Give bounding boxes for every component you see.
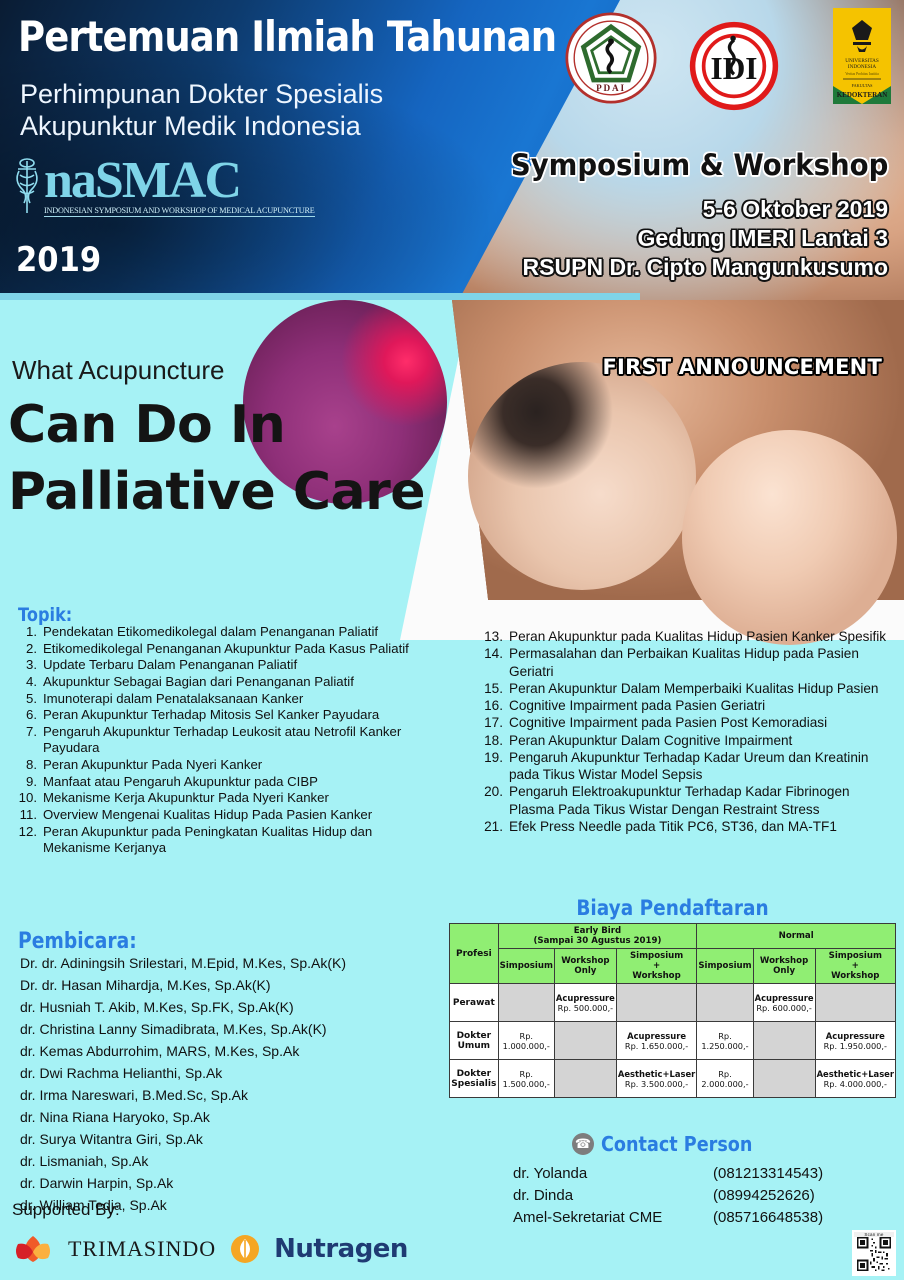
price-cell-label: Acupressure xyxy=(556,993,615,1003)
price-cell-n-workshop: AcupressureRp. 600.000,- xyxy=(753,984,815,1022)
topic-number: 4. xyxy=(16,674,43,691)
topic-item: 1.Pendekatan Etikomedikolegal dalam Pena… xyxy=(16,624,416,641)
price-cell-amount: Rp. 4.000.000,- xyxy=(817,1079,894,1089)
hero-theme-line-2: Palliative Care xyxy=(8,459,425,526)
n-workshop-l1: Workshop xyxy=(760,956,808,966)
col-n-simposium: Simposium xyxy=(697,949,753,984)
contact-name: dr. Yolanda xyxy=(513,1163,713,1185)
price-cell-n-combo: AcupressureRp. 1.950.000,- xyxy=(815,1022,895,1060)
table-row: Dokter SpesialisRp. 1.500.000,-Aesthetic… xyxy=(450,1060,896,1098)
event-venue-line-2: RSUPN Dr. Cipto Mangunkusumo xyxy=(523,253,888,282)
topic-number: 8. xyxy=(16,757,43,774)
topic-text: Cognitive Impairment pada Pasien Geriatr… xyxy=(509,697,892,714)
caduceus-icon xyxy=(10,155,44,217)
organization-line-2: Akupunktur Medik Indonesia xyxy=(20,110,383,142)
phone-icon: ☎ xyxy=(572,1133,594,1155)
topic-item: 4.Akupunktur Sebagai Bagian dari Penanga… xyxy=(16,674,416,691)
speaker-item: dr. Dwi Rachma Helianthi, Sp.Ak xyxy=(20,1063,420,1085)
topic-number: 10. xyxy=(16,790,43,807)
col-profesi: Profesi xyxy=(450,924,499,984)
n-combo-l1: Simposium xyxy=(829,951,882,961)
topic-item: 21.Efek Press Needle pada Titik PC6, ST3… xyxy=(482,818,892,835)
contact-phone[interactable]: (085716648538) xyxy=(713,1207,823,1229)
event-venue-line-1: Gedung IMERI Lantai 3 xyxy=(523,224,888,253)
price-cell-eb-combo xyxy=(616,984,696,1022)
price-cell-amount: Rp. 1.500.000,- xyxy=(500,1069,553,1089)
sponsor-logos: TRIMASINDO Nutragen xyxy=(12,1232,408,1266)
eb-combo-l3: Workshop xyxy=(632,971,680,981)
topic-text: Peran Akupunktur pada Kualitas Hidup Pas… xyxy=(509,628,892,645)
contact-heading: Contact Person xyxy=(601,1132,752,1156)
topic-item: 16.Cognitive Impairment pada Pasien Geri… xyxy=(482,697,892,714)
price-cell-n-workshop xyxy=(753,1060,815,1098)
topic-number: 13. xyxy=(482,628,509,645)
topics-list-right: 13.Peran Akupunktur pada Kualitas Hidup … xyxy=(482,628,892,835)
contact-row: Amel-Sekretariat CME(085716648538) xyxy=(513,1207,823,1229)
topic-number: 7. xyxy=(16,724,43,757)
topic-number: 9. xyxy=(16,774,43,791)
universitas-indonesia-logo: UNIVERSITAS INDONESIA Veritas Probitas I… xyxy=(833,8,891,104)
topic-number: 19. xyxy=(482,749,509,784)
price-cell-amount: Rp. 3.500.000,- xyxy=(618,1079,695,1089)
nasmac-tagline: INDONESIAN SYMPOSIUM AND WORKSHOP OF MED… xyxy=(44,206,315,217)
contact-list: dr. Yolanda(081213314543)dr. Dinda(08994… xyxy=(513,1163,823,1228)
hero-theme: Can Do In Palliative Care xyxy=(8,392,425,525)
contact-phone[interactable]: (08994252626) xyxy=(713,1185,815,1207)
nasmac-wordmark: naSMAC xyxy=(44,157,315,205)
topic-text: Pengaruh Akupunktur Terhadap Leukosit at… xyxy=(43,724,416,757)
page-title: Pertemuan Ilmiah Tahunan xyxy=(18,12,556,61)
topic-item: 19.Pengaruh Akupunktur Terhadap Kadar Ur… xyxy=(482,749,892,784)
price-cell-amount: Rp. 2.000.000,- xyxy=(698,1069,751,1089)
price-cell-eb-workshop xyxy=(554,1060,616,1098)
topic-number: 1. xyxy=(16,624,43,641)
topic-item: 18.Peran Akupunktur Dalam Cognitive Impa… xyxy=(482,732,892,749)
price-cell-eb-simposium xyxy=(498,984,554,1022)
price-row-label: Dokter Spesialis xyxy=(450,1060,499,1098)
topic-item: 5.Imunoterapi dalam Penatalaksanaan Kank… xyxy=(16,691,416,708)
topic-item: 8.Peran Akupunktur Pada Nyeri Kanker xyxy=(16,757,416,774)
topic-text: Overview Mengenai Kualitas Hidup Pada Pa… xyxy=(43,807,416,824)
price-cell-label: Acupressure xyxy=(817,1031,894,1041)
topic-text: Pengaruh Akupunktur Terhadap Kadar Ureum… xyxy=(509,749,892,784)
speaker-item: Dr. dr. Adiningsih Srilestari, M.Epid, M… xyxy=(20,953,420,975)
contact-phone[interactable]: (081213314543) xyxy=(713,1163,823,1185)
speakers-heading: Pembicara: xyxy=(18,929,137,954)
price-cell-n-simposium: Rp. 1.250.000,- xyxy=(697,1022,753,1060)
pricing-table: Profesi Early Bird (Sampai 30 Agustus 20… xyxy=(449,923,896,1098)
organization-line-1: Perhimpunan Dokter Spesialis xyxy=(20,78,383,110)
nutragen-icon xyxy=(230,1234,260,1264)
price-cell-label: Aesthetic+Laser xyxy=(618,1069,695,1079)
event-type: Symposium & Workshop xyxy=(511,148,888,182)
topics-list-left: 1.Pendekatan Etikomedikolegal dalam Pena… xyxy=(16,624,416,857)
topic-text: Permasalahan dan Perbaikan Kualitas Hidu… xyxy=(509,645,892,680)
price-cell-label: Acupressure xyxy=(618,1031,695,1041)
eb-combo-l1: Simposium xyxy=(630,951,683,961)
price-cell-label: Aesthetic+Laser xyxy=(817,1069,894,1079)
topic-text: Akupunktur Sebagai Bagian dari Penangana… xyxy=(43,674,416,691)
topic-number: 18. xyxy=(482,732,509,749)
topic-text: Update Terbaru Dalam Penanganan Paliatif xyxy=(43,657,416,674)
col-eb-workshop: Workshop Only xyxy=(554,949,616,984)
eb-combo-l2: + xyxy=(653,961,660,971)
trimasindo-icon xyxy=(12,1232,54,1266)
n-workshop-l2: Only xyxy=(773,966,795,976)
price-cell-eb-simposium: Rp. 1.500.000,- xyxy=(498,1060,554,1098)
price-cell-n-simposium xyxy=(697,984,753,1022)
speaker-item: dr. Nina Riana Haryoko, Sp.Ak xyxy=(20,1107,420,1129)
eb-workshop-l2: Only xyxy=(574,966,596,976)
price-cell-eb-combo: Aesthetic+LaserRp. 3.500.000,- xyxy=(616,1060,696,1098)
topic-item: 9.Manfaat atau Pengaruh Akupunktur pada … xyxy=(16,774,416,791)
col-eb-simposium: Simposium xyxy=(498,949,554,984)
topic-number: 2. xyxy=(16,641,43,658)
photo-finger-pressure xyxy=(682,430,897,645)
contact-name: Amel-Sekretariat CME xyxy=(513,1207,713,1229)
topic-item: 6.Peran Akupunktur Terhadap Mitosis Sel … xyxy=(16,707,416,724)
topic-text: Peran Akupunktur Terhadap Mitosis Sel Ka… xyxy=(43,707,416,724)
idi-logo: IDI xyxy=(688,20,780,112)
topics-heading: Topik: xyxy=(18,604,72,626)
topic-number: 6. xyxy=(16,707,43,724)
topic-text: Manfaat atau Pengaruh Akupunktur pada CI… xyxy=(43,774,416,791)
col-group-early-bird: Early Bird (Sampai 30 Agustus 2019) xyxy=(498,924,697,949)
topic-text: Imunoterapi dalam Penatalaksanaan Kanker xyxy=(43,691,416,708)
topic-item: 15.Peran Akupunktur Dalam Memperbaiki Ku… xyxy=(482,680,892,697)
speaker-item: dr. Darwin Harpin, Sp.Ak xyxy=(20,1173,420,1195)
price-cell-n-combo: Aesthetic+LaserRp. 4.000.000,- xyxy=(815,1060,895,1098)
sponsor-nutragen-label: Nutragen xyxy=(274,1234,408,1264)
speaker-item: dr. Kemas Abdurrohim, MARS, M.Kes, Sp.Ak xyxy=(20,1041,420,1063)
speaker-item: dr. Husniah T. Akib, M.Kes, Sp.FK, Sp.Ak… xyxy=(20,997,420,1019)
topic-number: 5. xyxy=(16,691,43,708)
speaker-item: Dr. dr. Hasan Mihardja, M.Kes, Sp.Ak(K) xyxy=(20,975,420,997)
topic-text: Cognitive Impairment pada Pasien Post Ke… xyxy=(509,714,892,731)
price-cell-amount: Rp. 1.950.000,- xyxy=(817,1041,894,1051)
pdai-logo: PDAI xyxy=(565,12,657,104)
topic-item: 7.Pengaruh Akupunktur Terhadap Leukosit … xyxy=(16,724,416,757)
topic-item: 3.Update Terbaru Dalam Penanganan Paliat… xyxy=(16,657,416,674)
early-bird-label: Early Bird xyxy=(574,926,621,936)
topic-item: 20.Pengaruh Elektroakupunktur Terhadap K… xyxy=(482,783,892,818)
price-cell-amount: Rp. 600.000,- xyxy=(755,1003,814,1013)
table-row: PerawatAcupressureRp. 500.000,-Acupressu… xyxy=(450,984,896,1022)
price-cell-eb-workshop: AcupressureRp. 500.000,- xyxy=(554,984,616,1022)
topic-item: 17.Cognitive Impairment pada Pasien Post… xyxy=(482,714,892,731)
speaker-item: dr. Irma Nareswari, B.Med.Sc, Sp.Ak xyxy=(20,1085,420,1107)
event-date: 5-6 Oktober 2019 xyxy=(523,195,888,224)
topic-item: 11.Overview Mengenai Kualitas Hidup Pada… xyxy=(16,807,416,824)
photo-facial-acupuncture xyxy=(468,362,696,590)
topic-text: Peran Akupunktur Dalam Cognitive Impairm… xyxy=(509,732,892,749)
col-group-normal: Normal xyxy=(697,924,896,949)
pricing-heading: Biaya Pendaftaran xyxy=(476,896,869,920)
price-cell-amount: Rp. 1.650.000,- xyxy=(618,1041,695,1051)
supported-by-label: Supported By: xyxy=(12,1200,120,1220)
topic-text: Etikomedikolegal Penanganan Akupunktur P… xyxy=(43,641,416,658)
sponsor-trimasindo-label: TRIMASINDO xyxy=(68,1236,216,1262)
first-announcement-badge: FIRST ANNOUNCEMENT xyxy=(603,355,882,379)
topic-text: Efek Press Needle pada Titik PC6, ST36, … xyxy=(509,818,892,835)
price-cell-n-simposium: Rp. 2.000.000,- xyxy=(697,1060,753,1098)
n-combo-l2: + xyxy=(852,961,859,971)
organization-name: Perhimpunan Dokter Spesialis Akupunktur … xyxy=(20,78,383,143)
contact-name: dr. Dinda xyxy=(513,1185,713,1207)
hero-kicker: What Acupuncture xyxy=(12,355,224,386)
hero-theme-line-1: Can Do In xyxy=(8,392,425,459)
topic-item: 14.Permasalahan dan Perbaikan Kualitas H… xyxy=(482,645,892,680)
poster-header: Pertemuan Ilmiah Tahunan Perhimpunan Dok… xyxy=(0,0,904,300)
price-cell-eb-combo: AcupressureRp. 1.650.000,- xyxy=(616,1022,696,1060)
col-eb-combo: Simposium + Workshop xyxy=(616,949,696,984)
contact-row: dr. Yolanda(081213314543) xyxy=(513,1163,823,1185)
speaker-item: dr. Surya Witantra Giri, Sp.Ak xyxy=(20,1129,420,1151)
col-n-combo: Simposium + Workshop xyxy=(815,949,895,984)
svg-text:FAKULTAS: FAKULTAS xyxy=(852,83,874,88)
price-cell-amount: Rp. 500.000,- xyxy=(556,1003,615,1013)
speaker-item: dr. Lismaniah, Sp.Ak xyxy=(20,1151,420,1173)
topic-number: 12. xyxy=(16,824,43,857)
speakers-list: Dr. dr. Adiningsih Srilestari, M.Epid, M… xyxy=(20,953,420,1217)
event-year: 2019 xyxy=(16,240,101,280)
price-cell-eb-workshop xyxy=(554,1022,616,1060)
topic-item: 10.Mekanisme Kerja Akupunktur Pada Nyeri… xyxy=(16,790,416,807)
topic-item: 13.Peran Akupunktur pada Kualitas Hidup … xyxy=(482,628,892,645)
price-cell-label: Acupressure xyxy=(755,993,814,1003)
price-row-label: Perawat xyxy=(450,984,499,1022)
topic-text: Mekanisme Kerja Akupunktur Pada Nyeri Ka… xyxy=(43,790,416,807)
event-details: 5-6 Oktober 2019 Gedung IMERI Lantai 3 R… xyxy=(523,195,888,282)
topic-item: 2.Etikomedikolegal Penanganan Akupunktur… xyxy=(16,641,416,658)
col-n-workshop: Workshop Only xyxy=(753,949,815,984)
svg-text:Veritas Probitas Iustitia: Veritas Probitas Iustitia xyxy=(845,72,879,76)
qr-code[interactable]: Scan me xyxy=(852,1230,896,1276)
topic-text: Peran Akupunktur Dalam Memperbaiki Kuali… xyxy=(509,680,892,697)
topic-text: Pengaruh Elektroakupunktur Terhadap Kada… xyxy=(509,783,892,818)
speaker-item: dr. Christina Lanny Simadibrata, M.Kes, … xyxy=(20,1019,420,1041)
topic-number: 20. xyxy=(482,783,509,818)
topic-text: Pendekatan Etikomedikolegal dalam Penang… xyxy=(43,624,416,641)
eb-workshop-l1: Workshop xyxy=(561,956,609,966)
table-row: Dokter UmumRp. 1.000.000,-AcupressureRp.… xyxy=(450,1022,896,1060)
topic-item: 12.Peran Akupunktur pada Peningkatan Kua… xyxy=(16,824,416,857)
price-cell-amount: Rp. 1.000.000,- xyxy=(500,1031,553,1051)
contact-row: dr. Dinda(08994252626) xyxy=(513,1185,823,1207)
contact-heading-row: ☎ Contact Person xyxy=(449,1132,896,1156)
price-cell-eb-simposium: Rp. 1.000.000,- xyxy=(498,1022,554,1060)
svg-text:PDAI: PDAI xyxy=(596,83,626,93)
poster-root: Pertemuan Ilmiah Tahunan Perhimpunan Dok… xyxy=(0,0,904,1280)
topic-number: 3. xyxy=(16,657,43,674)
header-accent-strip xyxy=(0,293,640,300)
topic-number: 11. xyxy=(16,807,43,824)
svg-text:KEDOKTERAN: KEDOKTERAN xyxy=(837,91,888,99)
price-row-label: Dokter Umum xyxy=(450,1022,499,1060)
price-cell-amount: Rp. 1.250.000,- xyxy=(698,1031,751,1051)
n-combo-l3: Workshop xyxy=(831,971,879,981)
topic-text: Peran Akupunktur Pada Nyeri Kanker xyxy=(43,757,416,774)
svg-text:INDONESIA: INDONESIA xyxy=(848,64,876,70)
topic-number: 16. xyxy=(482,697,509,714)
topic-number: 15. xyxy=(482,680,509,697)
price-cell-n-combo xyxy=(815,984,895,1022)
topic-number: 14. xyxy=(482,645,509,680)
qr-code-icon xyxy=(855,1237,893,1271)
topic-text: Peran Akupunktur pada Peningkatan Kualit… xyxy=(43,824,416,857)
topic-number: 17. xyxy=(482,714,509,731)
nasmac-logo: naSMAC INDONESIAN SYMPOSIUM AND WORKSHOP… xyxy=(10,155,315,217)
topic-number: 21. xyxy=(482,818,509,835)
early-bird-note: (Sampai 30 Agustus 2019) xyxy=(534,936,662,946)
price-cell-n-workshop xyxy=(753,1022,815,1060)
